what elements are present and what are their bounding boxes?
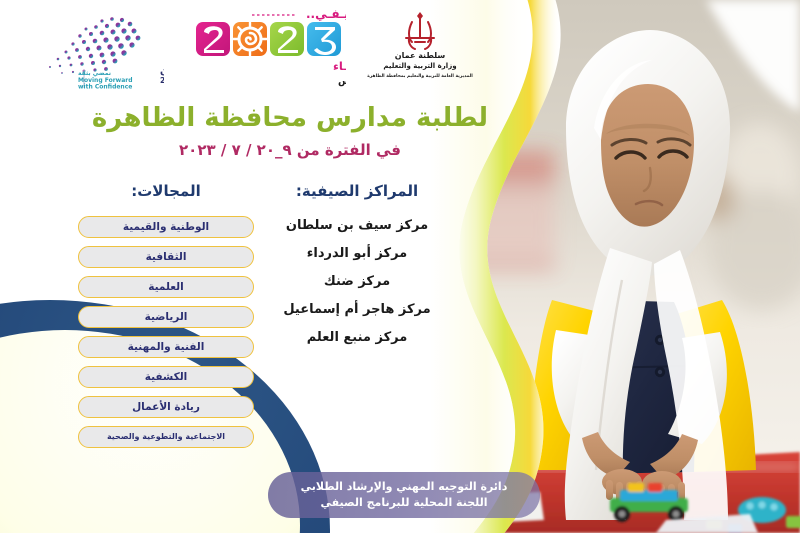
centers-section: المراكز الصيفية: مركز سيف بن سلطان مركز …: [262, 182, 452, 358]
footer-line-2: اللجنة المحلية للبرنامج الصيفي: [320, 495, 487, 511]
ministry-of-education-oman-emblem: سلطنة عمان وزارة التربية والتعليم المدير…: [360, 8, 480, 88]
svg-text:صيـفـي..: صيـفـي..: [306, 7, 346, 21]
field-pill-arts-professional[interactable]: الفنية والمهنية: [78, 336, 254, 358]
center-item-abu-darda: مركز أبو الدرداء: [262, 246, 452, 261]
svg-text:البرنامج الصيفي لطلبة المدارس: البرنامج الصيفي لطلبة المدارس: [338, 76, 346, 87]
svg-text:رؤيـــة وبنـــاء: رؤيـــة وبنـــاء: [333, 59, 346, 74]
header-logos: رؤية عمان 2040 نمضي بثقة Moving Forward …: [0, 0, 560, 100]
poster-root: رؤية عمان 2040 نمضي بثقة Moving Forward …: [0, 0, 800, 533]
center-item-saif-bin-sultan: مركز سيف بن سلطان: [262, 218, 452, 233]
svg-text:وزارة التربية والتعليم: وزارة التربية والتعليم: [383, 62, 456, 70]
centers-heading: المراكز الصيفية:: [262, 182, 452, 200]
footer-banner: دائرة التوجيه المهني والإرشاد الطلابي ال…: [268, 472, 540, 518]
field-pill-scientific[interactable]: العلمية: [78, 276, 254, 298]
summer-2023-logo: صيـفـي..: [188, 4, 346, 96]
svg-text:المديرية العامة للتربية والتعل: المديرية العامة للتربية والتعليم بمحافظة…: [367, 74, 473, 79]
oman-vision-2040-logo: رؤية عمان 2040 نمضي بثقة Moving Forward …: [14, 12, 164, 90]
svg-text:with Confidence: with Confidence: [78, 84, 132, 91]
svg-text:نمضي بثقة: نمضي بثقة: [78, 70, 111, 77]
page-title: لطلبة مدارس محافظة الظاهرة: [60, 103, 520, 133]
field-pill-scouting[interactable]: الكشفية: [78, 366, 254, 388]
svg-text:2040: 2040: [160, 76, 164, 85]
fields-heading: المجالات:: [78, 182, 254, 200]
center-item-dhank: مركز ضنك: [262, 274, 452, 289]
field-pill-social-volunteer-health[interactable]: الاجتماعية والتطوعية والصحية: [78, 426, 254, 448]
event-date: في الفترة من ٩_٢٠ / ٧ / ٢٠٢٣: [60, 141, 520, 159]
fields-section: المجالات: الوطنية والقيمية الثقافية العل…: [78, 182, 254, 456]
field-pill-cultural[interactable]: الثقافية: [78, 246, 254, 268]
field-pill-entrepreneurship[interactable]: ريادة الأعمال: [78, 396, 254, 418]
center-item-manba-al-ilm: مركز منبع العلم: [262, 330, 452, 345]
field-pill-sports[interactable]: الرياضية: [78, 306, 254, 328]
field-pill-national[interactable]: الوطنية والقيمية: [78, 216, 254, 238]
svg-text:سلطنة عمان: سلطنة عمان: [395, 51, 446, 60]
center-item-hajar-um-ismail: مركز هاجر أم إسماعيل: [262, 302, 452, 317]
footer-line-1: دائرة التوجيه المهني والإرشاد الطلابي: [301, 479, 508, 495]
